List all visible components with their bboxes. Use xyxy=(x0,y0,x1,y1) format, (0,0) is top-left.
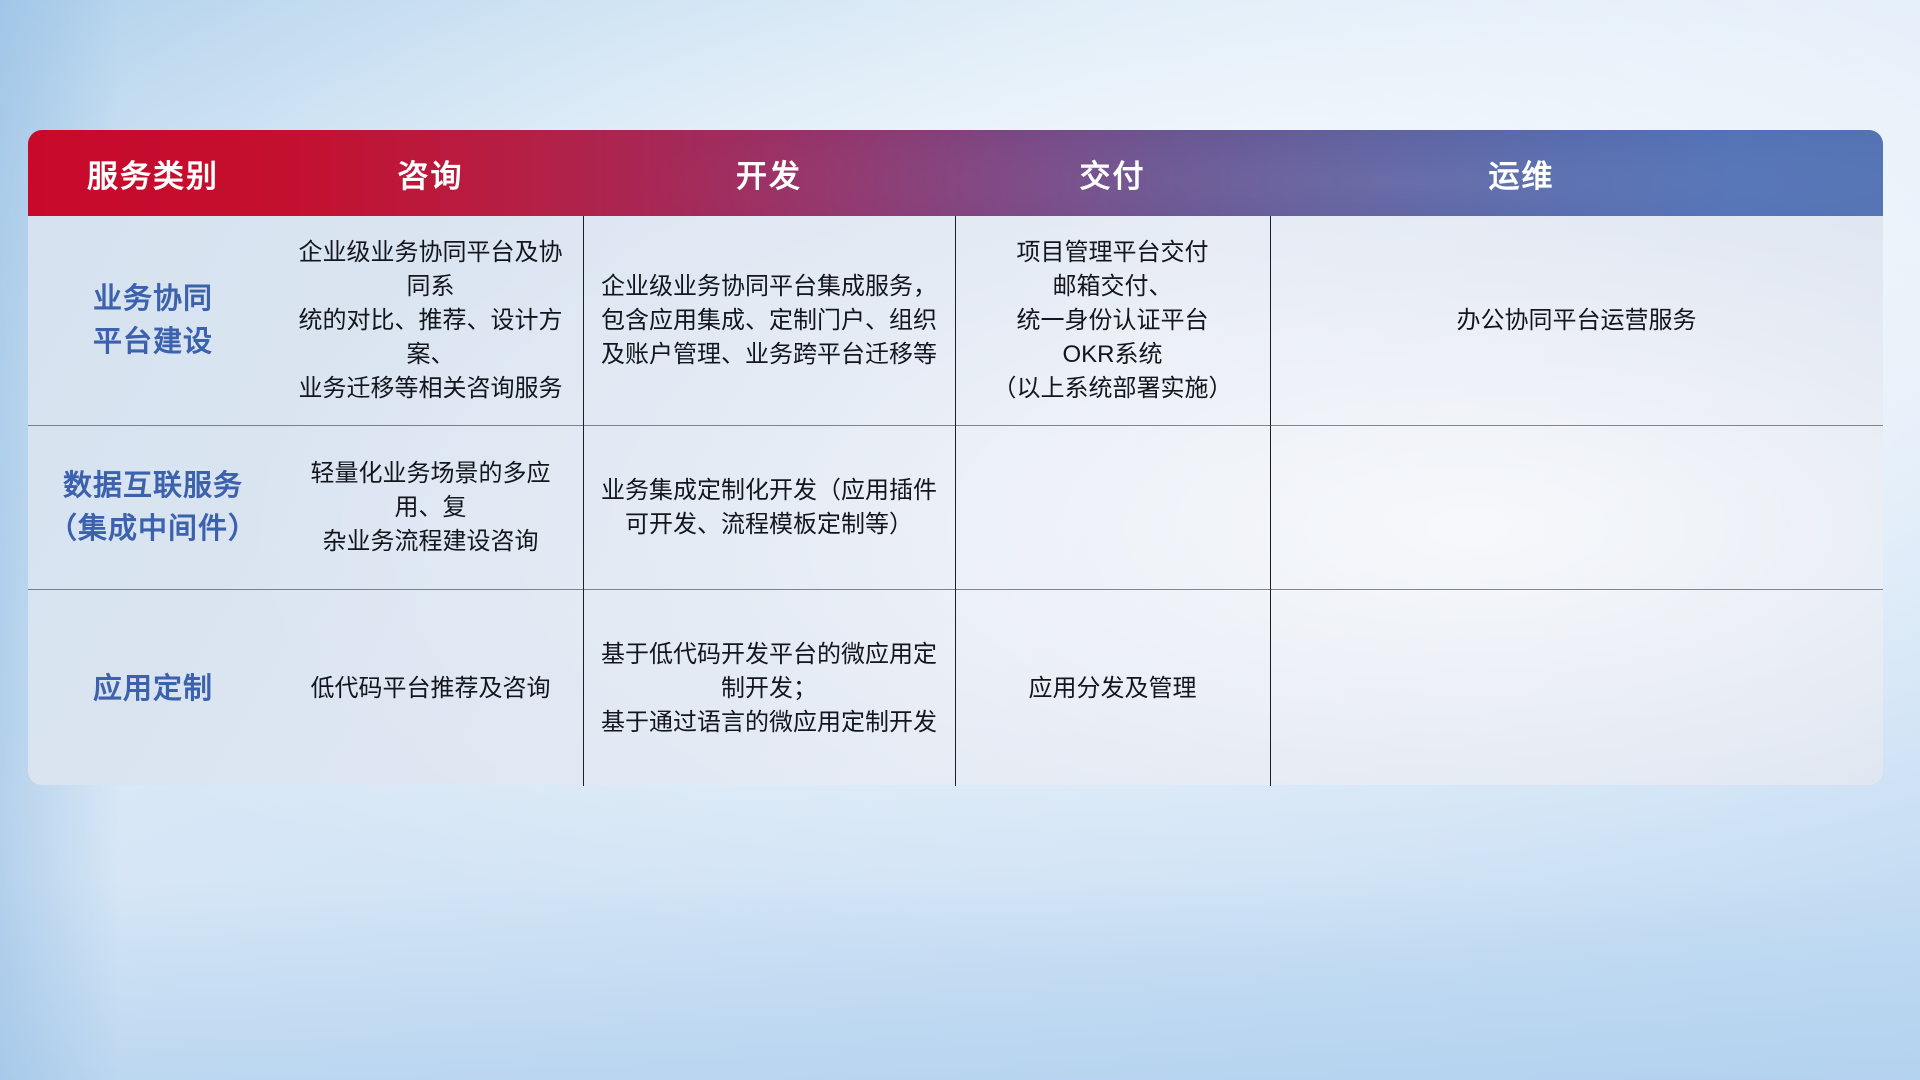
cell-delivery: 应用分发及管理 xyxy=(955,590,1270,788)
cell-text: 基于低代码开发平台的微应用定 制开发； 基于通过语言的微应用定制开发 xyxy=(601,638,937,740)
service-category-table: 服务类别 咨询 开发 交付 运维 业务协同 平台建设 企业级业务协同平台及协同系… xyxy=(28,130,1883,785)
row-category-label: 应用定制 xyxy=(28,590,278,788)
cell-text: 业务集成定制化开发（应用插件 可开发、流程模板定制等） xyxy=(601,474,937,542)
cell-consulting: 轻量化业务场景的多应用、复 杂业务流程建设咨询 xyxy=(278,426,583,590)
table-header-row: 服务类别 咨询 开发 交付 运维 xyxy=(28,130,1883,216)
cell-text: 企业级业务协同平台及协同系 统的对比、推荐、设计方案、 业务迁移等相关咨询服务 xyxy=(294,236,567,406)
column-header-service-category: 服务类别 xyxy=(28,151,278,196)
cell-consulting: 低代码平台推荐及咨询 xyxy=(278,590,583,788)
cell-text: 应用定制 xyxy=(93,668,213,711)
column-header-delivery: 交付 xyxy=(955,151,1270,196)
cell-text: 轻量化业务场景的多应用、复 杂业务流程建设咨询 xyxy=(294,457,567,559)
cell-text: 项目管理平台交付 邮箱交付、 统一身份认证平台 OKR系统 （以上系统部署实施） xyxy=(993,236,1233,406)
column-divider xyxy=(955,216,956,786)
cell-delivery: 项目管理平台交付 邮箱交付、 统一身份认证平台 OKR系统 （以上系统部署实施） xyxy=(955,216,1270,426)
cell-text: 办公协同平台运营服务 xyxy=(1457,304,1697,338)
column-header-consulting: 咨询 xyxy=(278,151,583,196)
cell-text: 数据互联服务 （集成中间件） xyxy=(48,465,258,551)
cell-operations xyxy=(1270,590,1883,788)
cell-development: 基于低代码开发平台的微应用定 制开发； 基于通过语言的微应用定制开发 xyxy=(583,590,955,788)
cell-development: 企业级业务协同平台集成服务， 包含应用集成、定制门户、组织 及账户管理、业务跨平… xyxy=(583,216,955,426)
cell-text: 业务协同 平台建设 xyxy=(93,278,213,364)
cell-text: 企业级业务协同平台集成服务， 包含应用集成、定制门户、组织 及账户管理、业务跨平… xyxy=(601,270,937,372)
cell-development: 业务集成定制化开发（应用插件 可开发、流程模板定制等） xyxy=(583,426,955,590)
cell-delivery xyxy=(955,426,1270,590)
column-header-development: 开发 xyxy=(583,151,955,196)
cell-text: 低代码平台推荐及咨询 xyxy=(311,672,551,706)
cell-operations xyxy=(1270,426,1883,590)
column-divider xyxy=(583,216,584,786)
cell-consulting: 企业级业务协同平台及协同系 统的对比、推荐、设计方案、 业务迁移等相关咨询服务 xyxy=(278,216,583,426)
cell-operations: 办公协同平台运营服务 xyxy=(1270,216,1883,426)
row-category-label: 数据互联服务 （集成中间件） xyxy=(28,426,278,590)
row-category-label: 业务协同 平台建设 xyxy=(28,216,278,426)
cell-text: 应用分发及管理 xyxy=(1029,672,1197,706)
column-header-operations: 运维 xyxy=(1270,151,1883,196)
column-divider xyxy=(1270,216,1271,786)
